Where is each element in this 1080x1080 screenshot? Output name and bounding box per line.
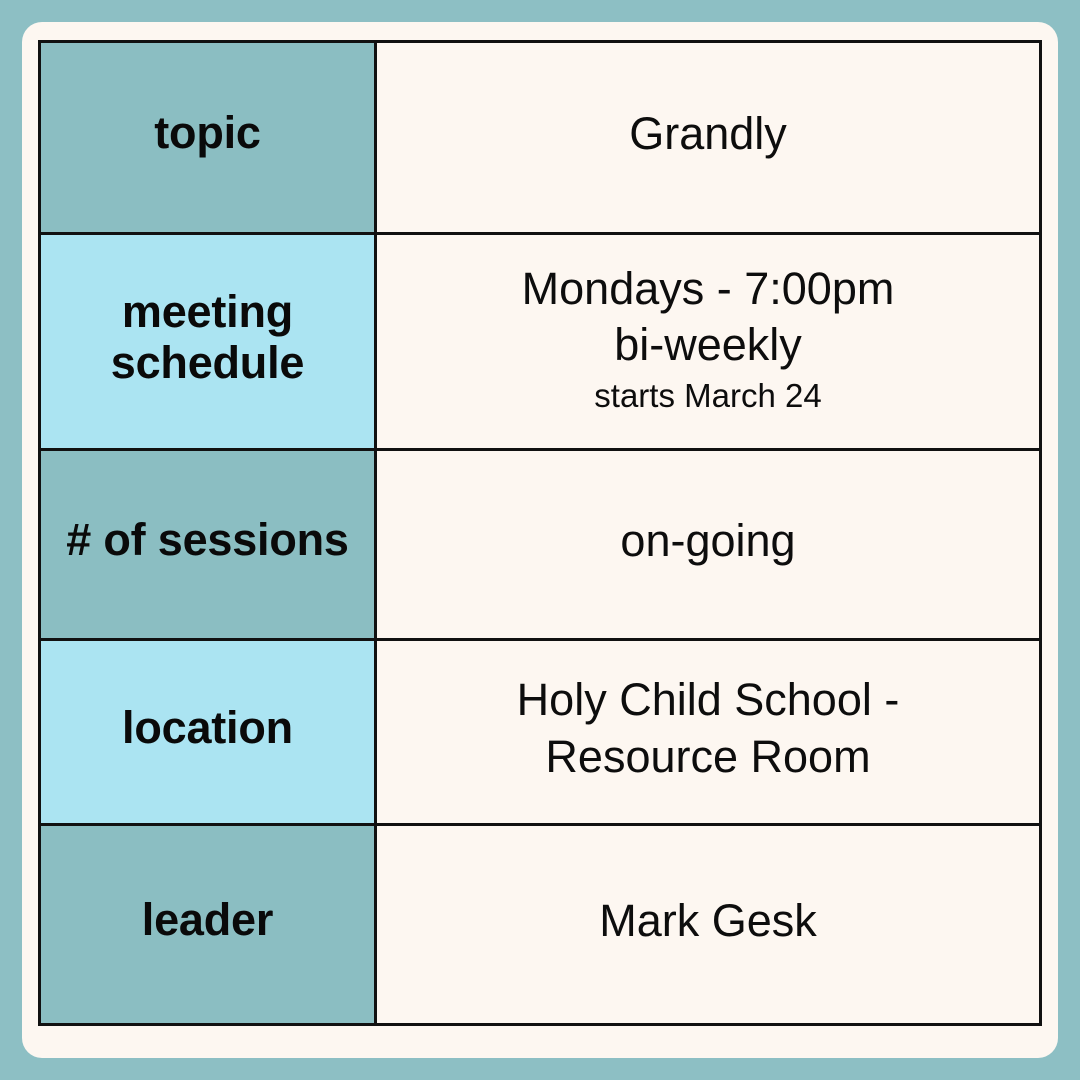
value-text: Mark Gesk — [391, 893, 1025, 950]
value-text: on-going — [391, 513, 1025, 570]
label-text: leader — [47, 895, 368, 945]
label-text: location — [47, 703, 368, 753]
value-note: starts March 24 — [391, 376, 1025, 416]
value-group: Mondays - 7:00pm bi-weekly starts March … — [391, 261, 1025, 417]
table-row: leader Mark Gesk — [40, 825, 1041, 1025]
label-text: # of sessions — [47, 515, 368, 565]
table-row: location Holy Child School - Resource Ro… — [40, 640, 1041, 825]
value-text: Holy Child School - Resource Room — [391, 672, 1025, 785]
table-row: topic Grandly — [40, 42, 1041, 234]
row-value-topic: Grandly — [376, 42, 1041, 234]
row-value-number-of-sessions: on-going — [376, 450, 1041, 640]
group-info-table: topic Grandly meeting schedule — [38, 40, 1042, 1026]
row-value-location: Holy Child School - Resource Room — [376, 640, 1041, 825]
info-card: topic Grandly meeting schedule — [22, 22, 1058, 1058]
value-group: Grandly — [391, 106, 1025, 163]
row-value-leader: Mark Gesk — [376, 825, 1041, 1025]
page-background: topic Grandly meeting schedule — [0, 0, 1080, 1080]
row-label-topic: topic — [40, 42, 376, 234]
value-text: Grandly — [391, 106, 1025, 163]
row-label-location: location — [40, 640, 376, 825]
value-group: Mark Gesk — [391, 893, 1025, 950]
row-label-number-of-sessions: # of sessions — [40, 450, 376, 640]
row-value-meeting-schedule: Mondays - 7:00pm bi-weekly starts March … — [376, 234, 1041, 450]
table-row: meeting schedule Mondays - 7:00pm bi-wee… — [40, 234, 1041, 450]
row-label-leader: leader — [40, 825, 376, 1025]
label-text: topic — [47, 108, 368, 158]
row-label-meeting-schedule: meeting schedule — [40, 234, 376, 450]
table-row: # of sessions on-going — [40, 450, 1041, 640]
label-text: meeting schedule — [47, 287, 368, 388]
value-group: on-going — [391, 513, 1025, 570]
table-body: topic Grandly meeting schedule — [40, 42, 1041, 1025]
value-group: Holy Child School - Resource Room — [391, 672, 1025, 785]
value-text: Mondays - 7:00pm bi-weekly — [391, 261, 1025, 374]
